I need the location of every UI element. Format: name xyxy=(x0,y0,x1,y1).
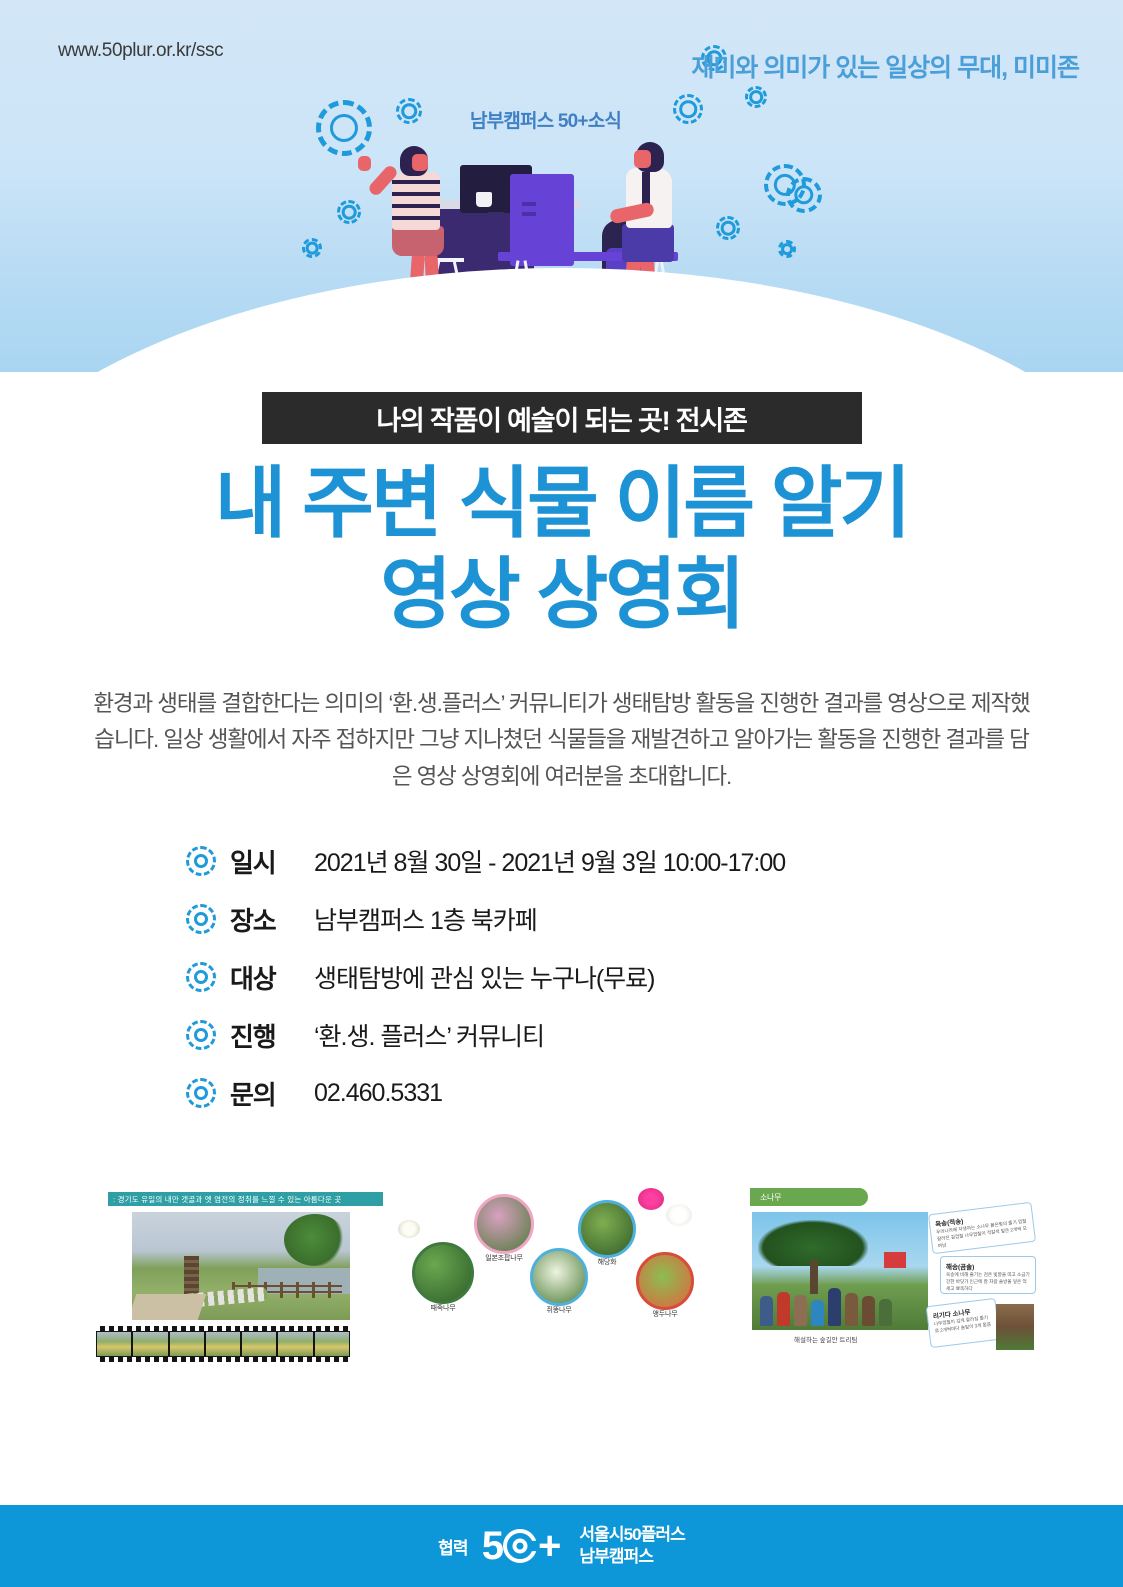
info-label: 장소 xyxy=(230,901,314,938)
decorative-ring-icon xyxy=(778,240,796,258)
poster-root: www.50plur.or.kr/ssc 재미와 의미가 있는 일상의 무대, … xyxy=(0,0,1123,1587)
footer-coop-label: 협력 xyxy=(438,1534,468,1559)
event-description: 환경과 생태를 결합한다는 의미의 ‘환.생.플러스’ 커뮤니티가 생태탐방 활… xyxy=(87,686,1037,795)
pine-image xyxy=(752,1212,928,1330)
page-title-line1: 내 주변 식물 이름 알기 xyxy=(0,458,1123,549)
info-label: 대상 xyxy=(230,959,314,996)
ring-bullet-icon xyxy=(186,1020,216,1050)
info-row-contact: 문의 02.460.5331 xyxy=(186,1064,1006,1122)
filmstrip xyxy=(96,1326,350,1362)
page-title-line2: 영상 상영회 xyxy=(0,549,1123,640)
info-label: 문의 xyxy=(230,1075,314,1112)
ring-bullet-icon xyxy=(186,846,216,876)
plant-label: 때죽나무 xyxy=(431,1303,456,1313)
event-info-list: 일시 2021년 8월 30일 - 2021년 9월 3일 10:00-17:0… xyxy=(186,832,1006,1122)
pine-callout: 리기다 소나무 나무껍질이 깊게 갈라짐 줄기로 2개씩마다 솔잎이 3개 돋음 xyxy=(926,1298,1001,1348)
info-row-date: 일시 2021년 8월 30일 - 2021년 9월 3일 10:00-17:0… xyxy=(186,832,1006,890)
logo-digit-five: 5 xyxy=(482,1524,502,1569)
landscape-caption-bar: : 경기도 유일의 내만 갯골과 옛 염전의 정취를 느낄 수 있는 아름다운 … xyxy=(108,1192,383,1206)
photo-pine-slide: 소나무 해설하는 숲길안 트리팀 육송(적송) xyxy=(744,1186,1034,1366)
flower-illustration xyxy=(666,1204,692,1226)
plant-circle: 앵두나무 xyxy=(636,1252,694,1310)
pine-tag: 소나무 xyxy=(750,1188,868,1206)
decorative-ring-icon xyxy=(745,86,767,108)
plant-label: 해당화 xyxy=(598,1257,617,1267)
plant-circle: 때죽나무 xyxy=(412,1242,474,1304)
ring-bullet-icon xyxy=(186,962,216,992)
site-url[interactable]: www.50plur.or.kr/ssc xyxy=(58,40,223,62)
pine-callout: 해송(곰솔) 육송에 비해 줄기는 검은 빛깔을 띠고 소금기 강한 바닷가 인… xyxy=(940,1256,1036,1294)
ring-bullet-icon xyxy=(186,1078,216,1108)
landscape-caption-text: : 경기도 유일의 내만 갯골과 옛 염전의 정취를 느낄 수 있는 아름다운 … xyxy=(113,1194,342,1205)
pine-callout: 육송(적송) 우리나라에 자생하는 소나무 붉은빛의 줄기 껍질 갈라진 겉껍질… xyxy=(928,1202,1036,1254)
info-value[interactable]: 02.460.5331 xyxy=(314,1079,442,1108)
plant-label: 일본조팝나무 xyxy=(485,1253,522,1263)
zone-banner: 나의 작품이 예술이 되는 곳! 전시존 xyxy=(262,392,862,444)
page-title: 내 주변 식물 이름 알기 영상 상영회 xyxy=(0,458,1123,641)
plant-circle: 일본조팝나무 xyxy=(474,1194,534,1254)
newsletter-label: 남부캠퍼스 50+소식 xyxy=(470,106,621,133)
flower-illustration xyxy=(638,1188,664,1210)
header-tagline: 재미와 의미가 있는 일상의 무대, 미미존 xyxy=(691,48,1079,84)
footer-organization: 서울시50플러스 남부캠퍼스 xyxy=(579,1524,685,1568)
decorative-ring-icon xyxy=(786,177,822,213)
footer-org-line1: 서울시50플러스 xyxy=(579,1524,685,1546)
flower-illustration xyxy=(398,1220,420,1238)
info-label: 일시 xyxy=(230,843,314,880)
info-label: 진행 xyxy=(230,1017,314,1054)
ring-bullet-icon xyxy=(186,904,216,934)
decorative-ring-icon xyxy=(337,200,361,224)
bark-thumbnail xyxy=(996,1304,1034,1350)
decorative-ring-icon xyxy=(673,94,703,124)
photo-gallery: : 경기도 유일의 내만 갯골과 옛 염전의 정취를 느낄 수 있는 아름다운 … xyxy=(0,1180,1123,1370)
info-value: ‘환.생. 플러스’ 커뮤니티 xyxy=(314,1017,544,1053)
info-value: 생태탐방에 관심 있는 누구나(무료) xyxy=(314,959,655,995)
plant-circle: 해당화 xyxy=(578,1200,636,1258)
poster-footer: 협력 5 + 서울시50플러스 남부캠퍼스 xyxy=(0,1505,1123,1587)
zone-banner-text: 나의 작품이 예술이 되는 곳! 전시존 xyxy=(376,399,746,438)
fifty-plus-logo: 5 + xyxy=(482,1524,560,1569)
logo-plus-sign: + xyxy=(538,1524,559,1569)
info-row-host: 진행 ‘환.생. 플러스’ 커뮤니티 xyxy=(186,1006,1006,1064)
logo-ring-icon xyxy=(503,1529,537,1563)
plant-label: 앵두나무 xyxy=(653,1309,678,1319)
decorative-ring-icon xyxy=(316,100,372,156)
info-value: 2021년 8월 30일 - 2021년 9월 3일 10:00-17:00 xyxy=(314,843,785,879)
white-hill-shape xyxy=(0,268,1123,372)
info-row-place: 장소 남부캠퍼스 1층 북카페 xyxy=(186,890,1006,948)
decorative-ring-icon xyxy=(396,98,422,124)
info-row-audience: 대상 생태탐방에 관심 있는 누구나(무료) xyxy=(186,948,1006,1006)
footer-org-line2: 남부캠퍼스 xyxy=(579,1546,685,1568)
poster-header: www.50plur.or.kr/ssc 재미와 의미가 있는 일상의 무대, … xyxy=(0,0,1123,372)
photo-landscape: : 경기도 유일의 내만 갯골과 옛 염전의 정취를 느낄 수 있는 아름다운 … xyxy=(96,1192,350,1362)
callout-body: 육송에 비해 줄기는 검은 빛깔을 띠고 소금기 강한 바닷가 인근에 잘 자람… xyxy=(946,1272,1030,1293)
plant-label: 쥐똥나무 xyxy=(547,1305,572,1315)
plant-circle: 쥐똥나무 xyxy=(530,1248,588,1306)
photo-plant-circles: 때죽나무 일본조팝나무 쥐똥나무 해당화 앵두나무 xyxy=(392,1186,712,1362)
landscape-image xyxy=(132,1212,350,1320)
decorative-ring-icon xyxy=(302,238,322,258)
pine-tag-text: 소나무 xyxy=(760,1192,781,1203)
callout-title: 해송(곰솔) xyxy=(946,1261,1030,1271)
info-value: 남부캠퍼스 1층 북카페 xyxy=(314,901,537,937)
pine-caption: 해설하는 숲길안 트리팀 xyxy=(794,1334,857,1344)
